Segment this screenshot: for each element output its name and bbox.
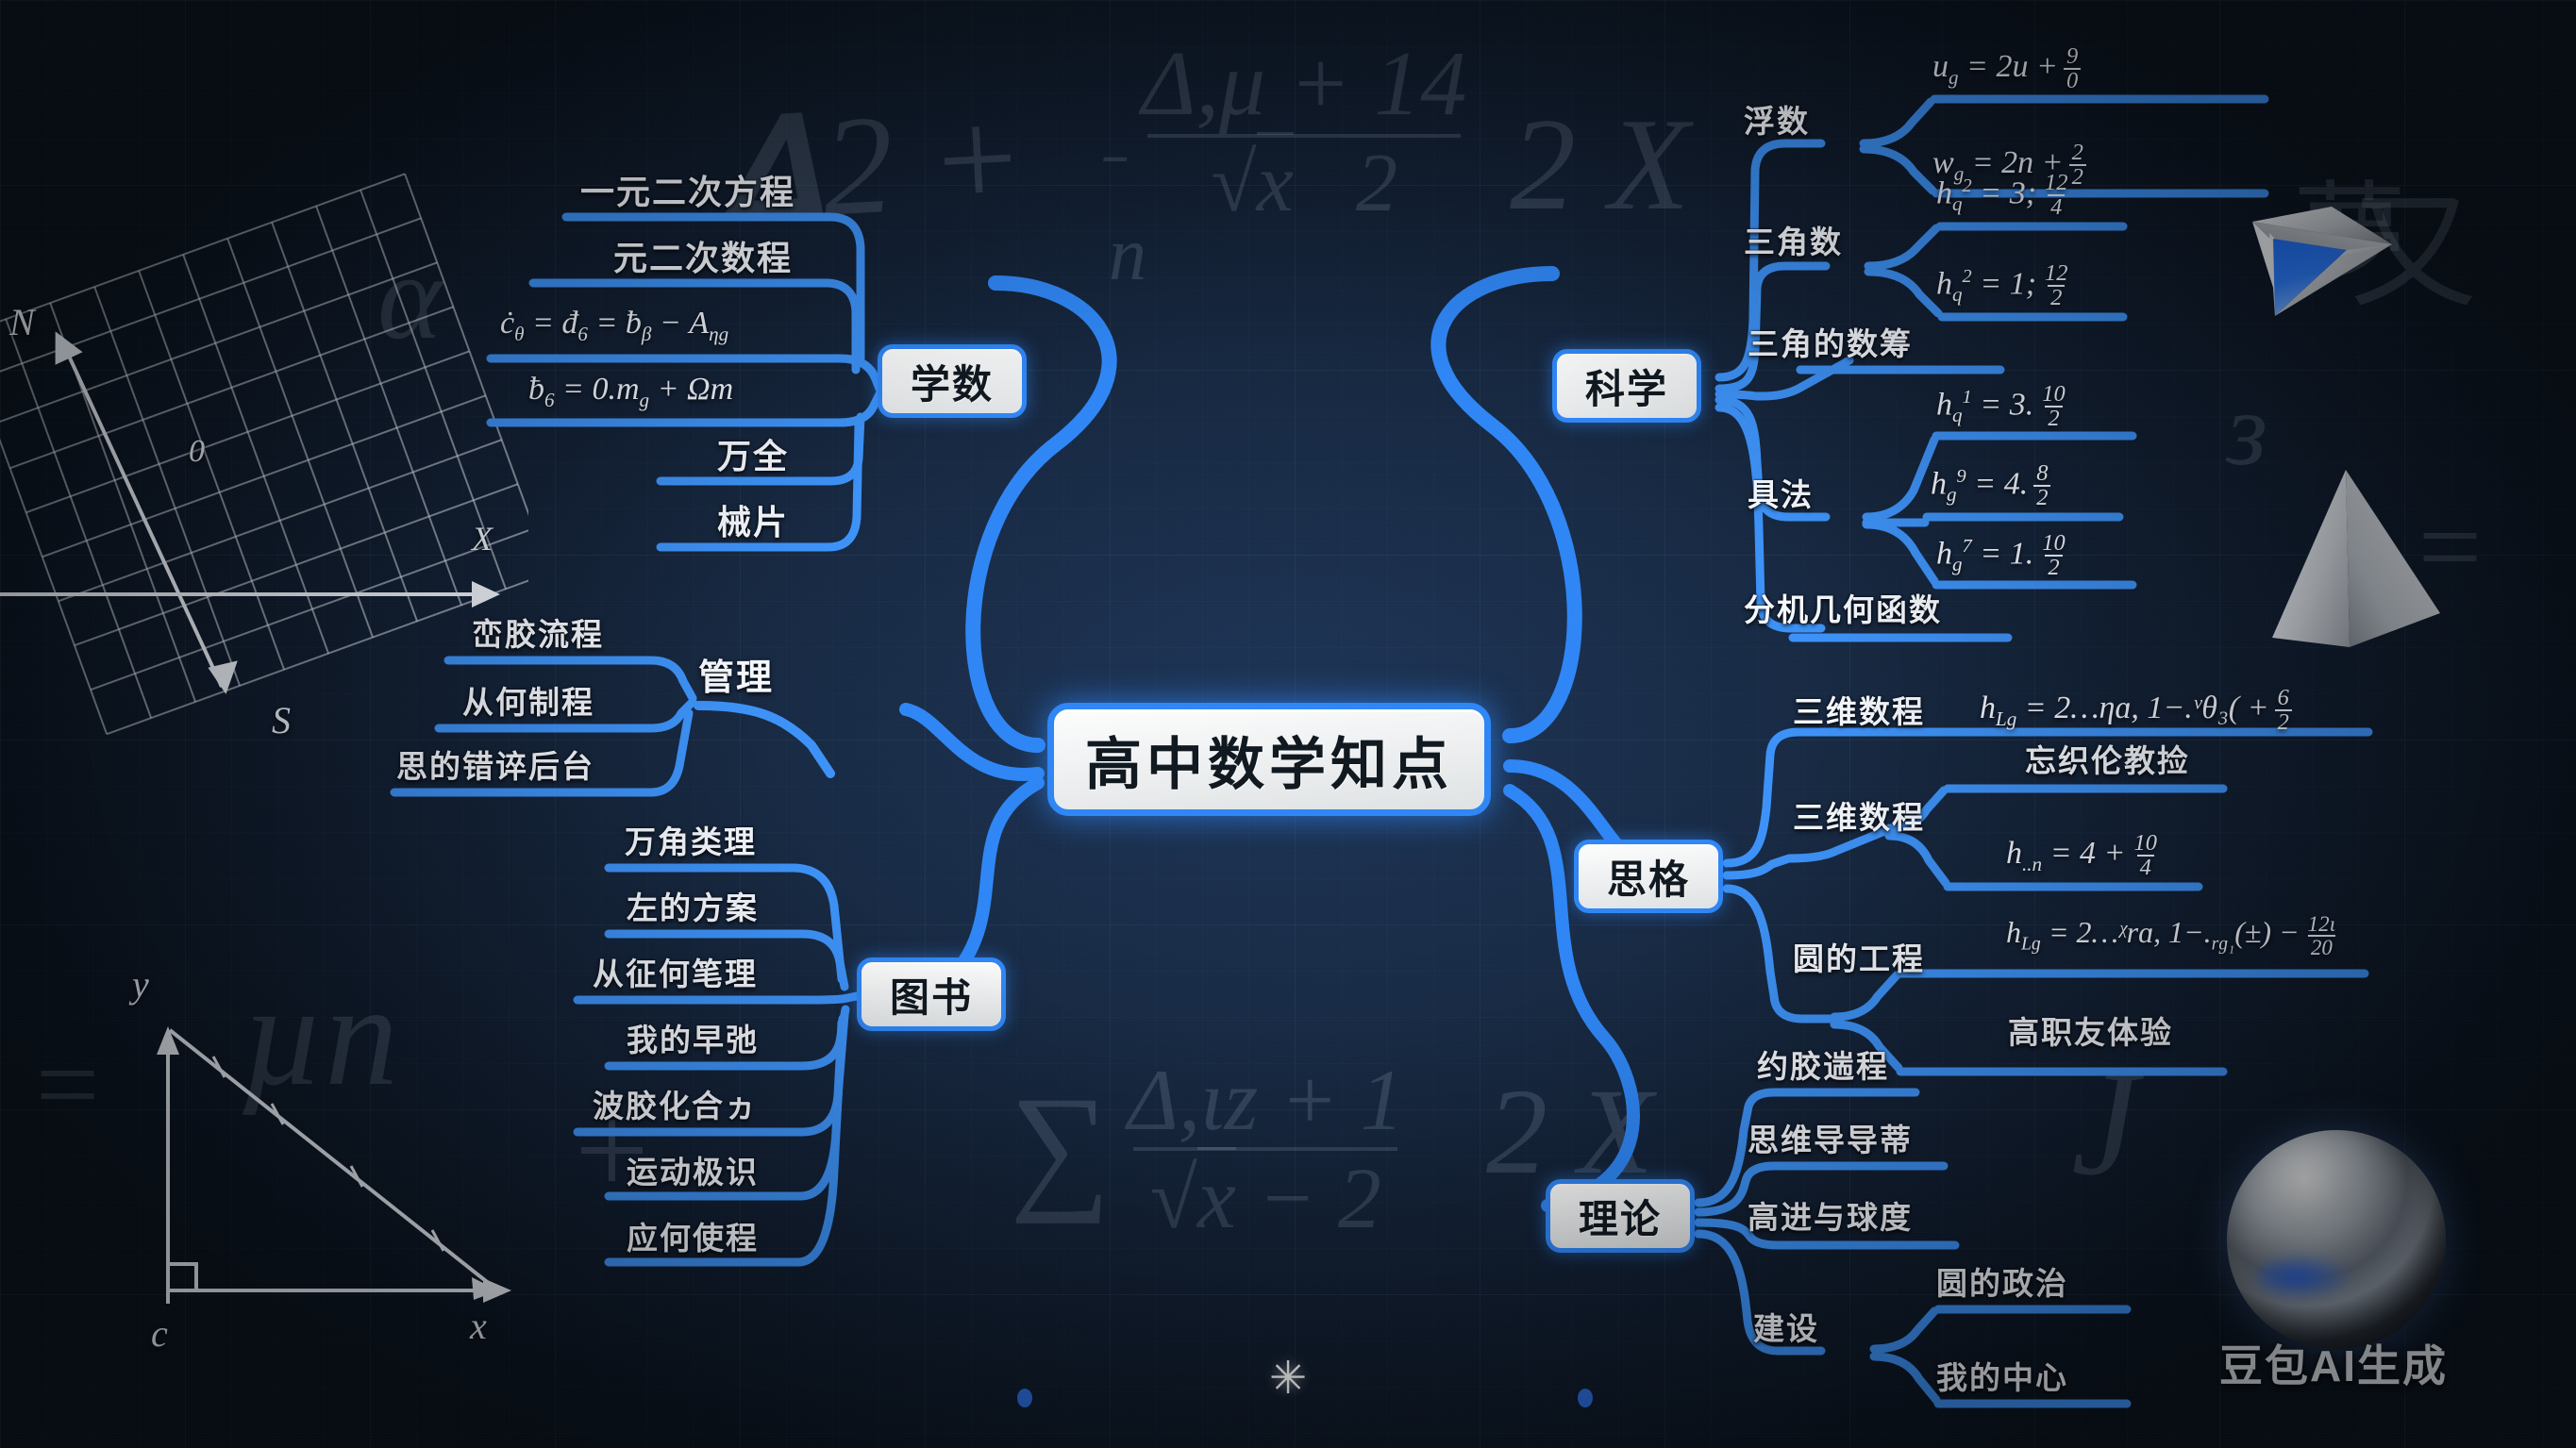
leaf-lilun-jianshe-1[interactable]: 我的中心 [1936,1362,2068,1393]
leaf-xueshu-5[interactable]: 械片 [717,506,789,540]
leaf-lilun-1[interactable]: 思维导导蒂 [1748,1124,1913,1156]
branch-label-kexue: 科学 [1585,358,1668,415]
pyramid-chrome-icon [2255,462,2453,651]
ghost-formula-n-bar: ̄n [1109,141,1146,292]
branch-node-kexue[interactable]: 科学 [1552,349,1701,423]
ghost-formula-delta-mu: Δ,μ + 14 √x 2 [1142,38,1466,225]
coord-label-s: S [272,698,291,742]
ghost-formula-d2plus: 𝚫2 + [713,87,1028,244]
group-label-sige-sanwei[interactable]: 三维数程 [1793,802,1925,833]
bottom-dot-right [1578,1389,1593,1407]
ghost-formula-mu-pi: µп [241,962,398,1108]
ghost-formula-cjk-right2: 又 [2350,189,2477,316]
leaf-kexue-fenjijihehanshu[interactable]: 分机几何函数 [1744,594,1942,625]
leaf-sige-0-label[interactable]: 三维数程 [1793,696,1925,727]
leaf-tushu-6[interactable]: 应何使程 [627,1223,759,1254]
ghost-formula-cjk-right: 夢 [2293,179,2406,292]
branch-node-tushu[interactable]: 图书 [857,957,1006,1031]
ghost-formula-equals-left: = [28,1028,105,1141]
coordinate-grid-decoration [0,141,528,745]
leaf-kexue-fushu-0[interactable]: ug = 2u +90 [1932,45,2081,93]
ghost-formula-equals-right: = [2411,491,2487,604]
leaf-tushu-1[interactable]: 左的方案 [627,892,759,924]
leaf-guanli-0[interactable]: 峦胶流程 [472,619,604,650]
ghost-formula-j: J [2071,1047,2138,1198]
leaf-sige-yuan-0[interactable]: hLɡ = 2…ᵡrɑ, 1−.rɡ₁(±) −12ι20 [2006,913,2338,958]
watermark-label: 豆包AI生成 [2219,1332,2448,1394]
ghost-formula-2x-top: 2 X [1510,99,1690,231]
branch-label-guanli[interactable]: 管理 [698,660,774,696]
branch-node-xueshu[interactable]: 学数 [878,344,1027,418]
leaf-tushu-5[interactable]: 运动极识 [627,1157,759,1188]
branch-node-sige[interactable]: 思格 [1574,840,1723,913]
group-label-kexue-jufa[interactable]: 具法 [1748,479,1814,510]
leaf-lilun-2[interactable]: 高进与球度 [1748,1202,1913,1233]
group-label-lilun-jianshe[interactable]: 建设 [1753,1313,1819,1344]
ghost-formula-delta-iz: Δ,ιz + 1 √x − 2 [1128,1057,1403,1241]
root-node-label: 高中数学知点 [1085,719,1453,801]
triangle-label-c: c [151,1311,168,1356]
coord-label-n: N [9,300,35,344]
leaf-sige-0-formula[interactable]: hLg = 2…ηɑ, 1−.ᵛθ₃( +62 [1980,687,2292,735]
group-label-kexue-fushu[interactable]: 浮数 [1744,106,1810,137]
group-label-kexue-sanjiaoshu[interactable]: 三角数 [1744,226,1843,258]
right-triangle-decoration [75,953,538,1349]
group-label-sige-yuandegongcheng[interactable]: 圆的工程 [1793,943,1925,974]
leaf-kexue-sanjiaoshu-1[interactable]: hq2 = 1;122 [1936,262,2070,310]
ghost-formula-sigma: ∑ [1010,1075,1111,1217]
branch-node-lilun[interactable]: 理论 [1546,1179,1695,1253]
mindmap-canvas: 𝚫2 + Δ,μ + 14 √x 2 2 X α ̄n µп = ∑ + Δ,ι… [0,0,2576,1448]
leaf-sige-sanwei-1[interactable]: h..n = 4 +104 [2006,832,2160,880]
leaf-xueshu-2[interactable]: ċθ = đ6 = ƀβ − Aηg [500,308,728,344]
leaf-kexue-sanjiaodeshuchou[interactable]: 三角的数筹 [1748,328,1913,359]
triangle-label-x: x [470,1304,487,1348]
leaf-tushu-4[interactable]: 波胶化合ヵ [593,1090,758,1122]
chrome-sphere-icon [2227,1130,2446,1349]
leaf-xueshu-3[interactable]: ƀ6 = 0.mg + Ωm [528,374,733,410]
leaf-kexue-jufa-2[interactable]: hg7 = 1.102 [1936,532,2068,580]
leaf-lilun-0[interactable]: 约胶遄程 [1757,1051,1889,1082]
branch-label-xueshu: 学数 [911,353,994,410]
leaf-guanli-2[interactable]: 思的错谇后台 [396,751,594,782]
coord-label-origin: 0 [189,434,205,470]
branch-label-tushu: 图书 [890,966,973,1024]
root-node[interactable]: 高中数学知点 [1047,703,1491,816]
snowflake-icon: ✳ [1269,1356,1307,1402]
leaf-kexue-jufa-0[interactable]: hq1 = 3.102 [1936,383,2068,431]
branch-label-lilun: 理论 [1579,1188,1662,1245]
leaf-sige-yuan-1[interactable]: 高职友体验 [2008,1017,2173,1048]
leaf-tushu-2[interactable]: 从征何笔理 [593,958,758,990]
bottom-dot-left [1017,1389,1032,1407]
leaf-tushu-3[interactable]: 我的早弛 [627,1024,759,1056]
ghost-formula-nine: з [2227,377,2267,481]
leaf-kexue-sanjiaoshu-0[interactable]: hq2 = 3;124 [1936,172,2070,220]
leaf-guanli-1[interactable]: 从何制程 [462,687,594,718]
ghost-formula-alpha: α [377,236,442,358]
branch-label-sige: 思格 [1607,848,1690,906]
tetrahedron-blue-icon [2241,203,2430,391]
leaf-tushu-0[interactable]: 万角类理 [625,826,757,857]
leaf-kexue-jufa-1[interactable]: hg9 = 4.82 [1931,462,2050,510]
leaf-lilun-jianshe-0[interactable]: 圆的政治 [1936,1268,2068,1299]
coord-label-x: X [472,519,493,558]
leaf-sige-sanwei-0[interactable]: 忘织伦教捡 [2025,745,2190,776]
ghost-formula-2x-bottom: 2 X [1486,1071,1653,1193]
leaf-xueshu-4[interactable]: 万全 [717,440,789,474]
triangle-label-y: y [132,962,149,1007]
leaf-xueshu-1[interactable]: 元二次数程 [613,241,793,275]
leaf-xueshu-0[interactable]: 一元二次方程 [580,175,795,209]
